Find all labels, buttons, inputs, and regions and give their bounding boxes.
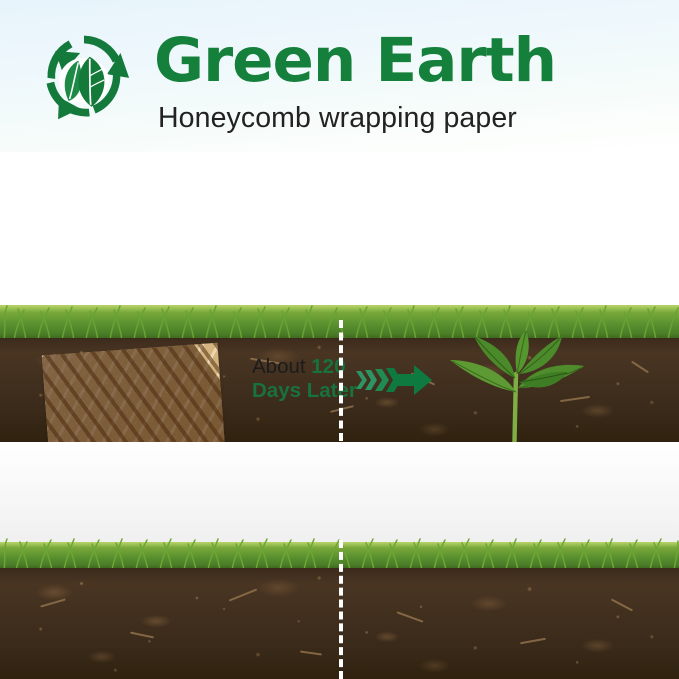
- soil-twig: [300, 650, 322, 655]
- recycle-leaves-icon: [36, 28, 132, 124]
- divider-top-panel: [339, 320, 343, 441]
- soil-twig: [520, 638, 546, 644]
- divider-bottom-panel: [339, 540, 343, 679]
- brand-title: Green Earth: [154, 30, 556, 91]
- caption-about-word: About: [252, 355, 311, 378]
- product-infographic: Green Earth Honeycomb wrapping paper: [0, 0, 679, 679]
- soil-twig: [397, 611, 424, 622]
- honeycomb-slit-texture: [42, 343, 228, 442]
- soil-twig: [229, 588, 258, 601]
- honeycomb-kraft-paper-sheet: [42, 343, 228, 442]
- soil-twig: [631, 361, 649, 374]
- soil-twig: [611, 598, 633, 611]
- soil-twig: [130, 632, 154, 639]
- soil-twig: [40, 598, 66, 607]
- brand-lockup: Green Earth Honeycomb wrapping paper: [36, 22, 646, 134]
- green-seedling: [440, 330, 590, 442]
- brand-subtitle: Honeycomb wrapping paper: [158, 104, 517, 133]
- right-arrow-icon: [356, 363, 432, 397]
- header-banner: Green Earth Honeycomb wrapping paper: [0, 0, 679, 152]
